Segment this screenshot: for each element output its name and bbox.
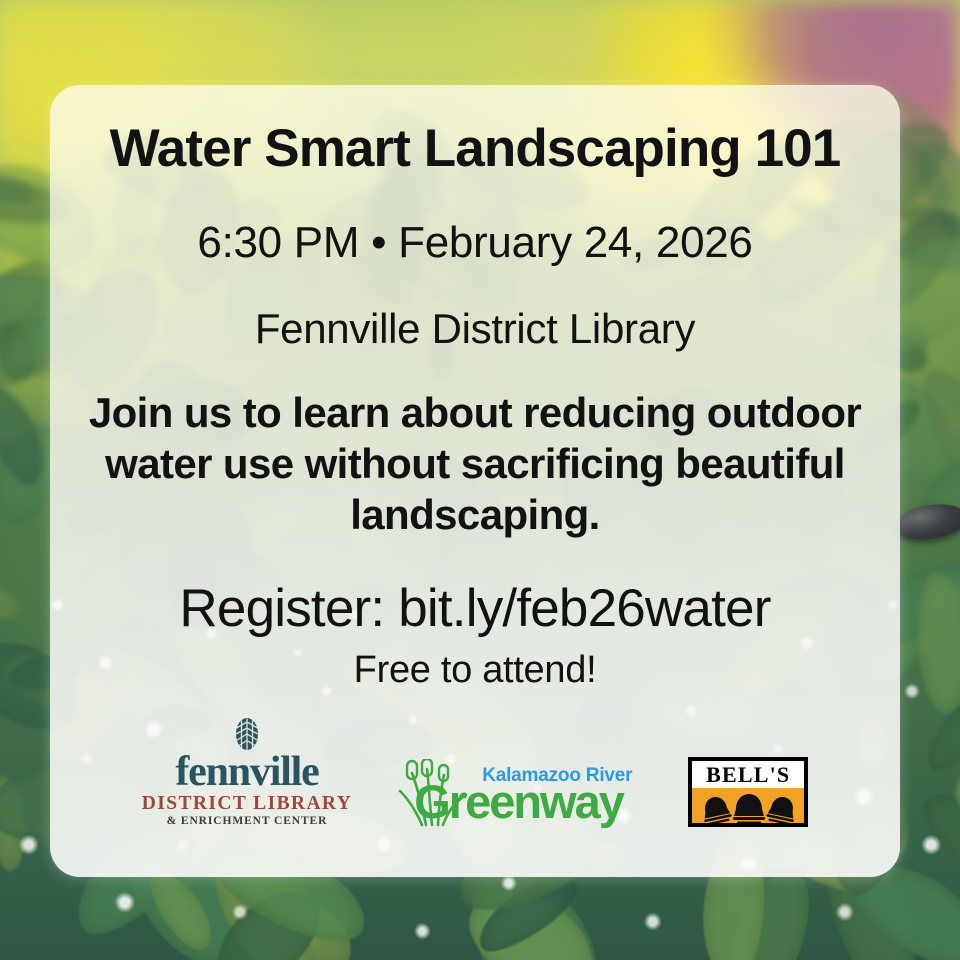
fennville-enrichment-center-text: & ENRICHMENT CENTER: [167, 816, 328, 828]
event-venue: Fennville District Library: [50, 308, 900, 351]
fennville-district-library-text: DISTRICT LIBRARY: [142, 794, 352, 814]
logo-fennville-district-library[interactable]: fennville DISTRICT LIBRARY & ENRICHMENT …: [142, 715, 352, 827]
logo-bells[interactable]: BELL'S: [688, 757, 808, 827]
logo-kalamazoo-river-greenway[interactable]: Kalamazoo River Greenway: [396, 761, 644, 827]
greenway-wordmark: Greenway: [414, 778, 623, 825]
sponsor-logo-row: fennville DISTRICT LIBRARY & ENRICHMENT …: [50, 715, 900, 827]
poster-card: Water Smart Landscaping 101 6:30 PM • Fe…: [50, 85, 900, 877]
registration-link[interactable]: Register: bit.ly/feb26water: [50, 582, 900, 636]
fennville-wordmark: fennville: [175, 751, 318, 793]
free-to-attend-note: Free to attend!: [50, 651, 900, 690]
page-title: Water Smart Landscaping 101: [50, 122, 900, 176]
three-bells-icon: [692, 788, 804, 823]
bells-wordmark: BELL'S: [692, 761, 804, 788]
event-datetime: 6:30 PM • February 24, 2026: [50, 221, 900, 266]
event-description: Join us to learn about reducing outdoor …: [50, 387, 900, 541]
